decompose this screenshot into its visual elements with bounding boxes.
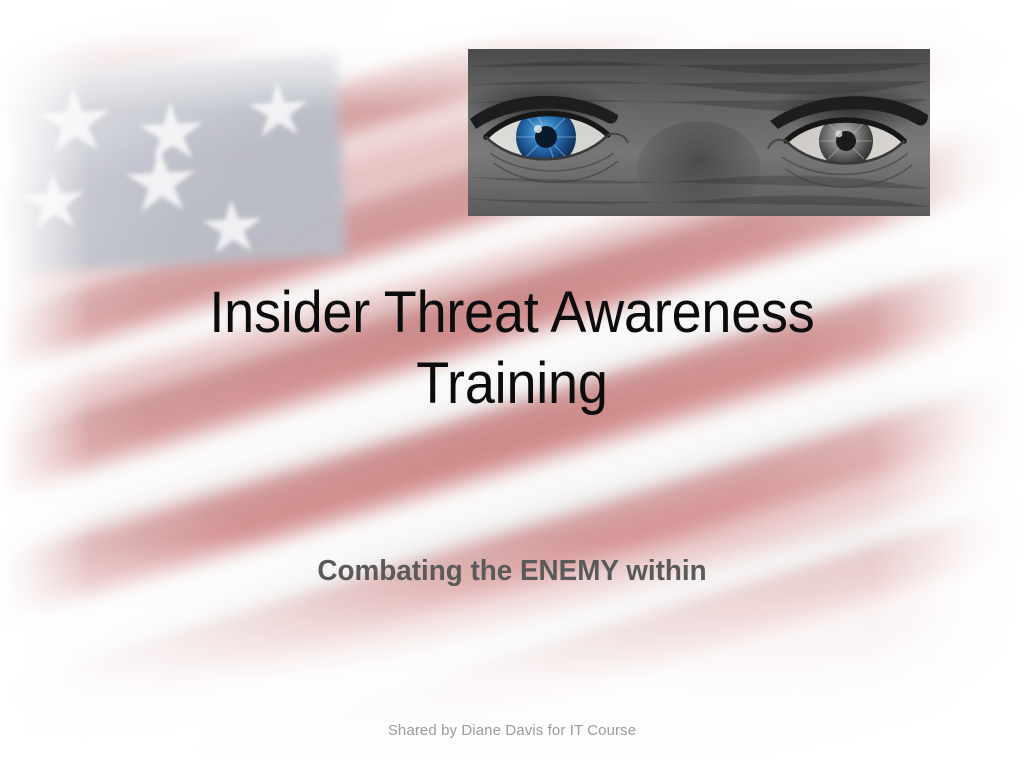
flag-fade-left <box>0 0 90 768</box>
subtitle: Combating the ENEMY within <box>113 554 912 589</box>
title-slide: Insider Threat Awareness Training Combat… <box>0 0 1024 768</box>
footer-credit: Shared by Diane Davis for IT Course <box>0 722 1024 739</box>
eyes-photo <box>468 49 930 216</box>
eyes-illustration <box>468 49 930 216</box>
footer-placeholder: Shared by Diane Davis for IT Course <box>0 722 1024 739</box>
title-placeholder: Insider Threat Awareness Training <box>96 278 928 420</box>
subtitle-placeholder: Combating the ENEMY within <box>96 554 928 589</box>
page-title: Insider Threat Awareness Training <box>125 278 899 420</box>
